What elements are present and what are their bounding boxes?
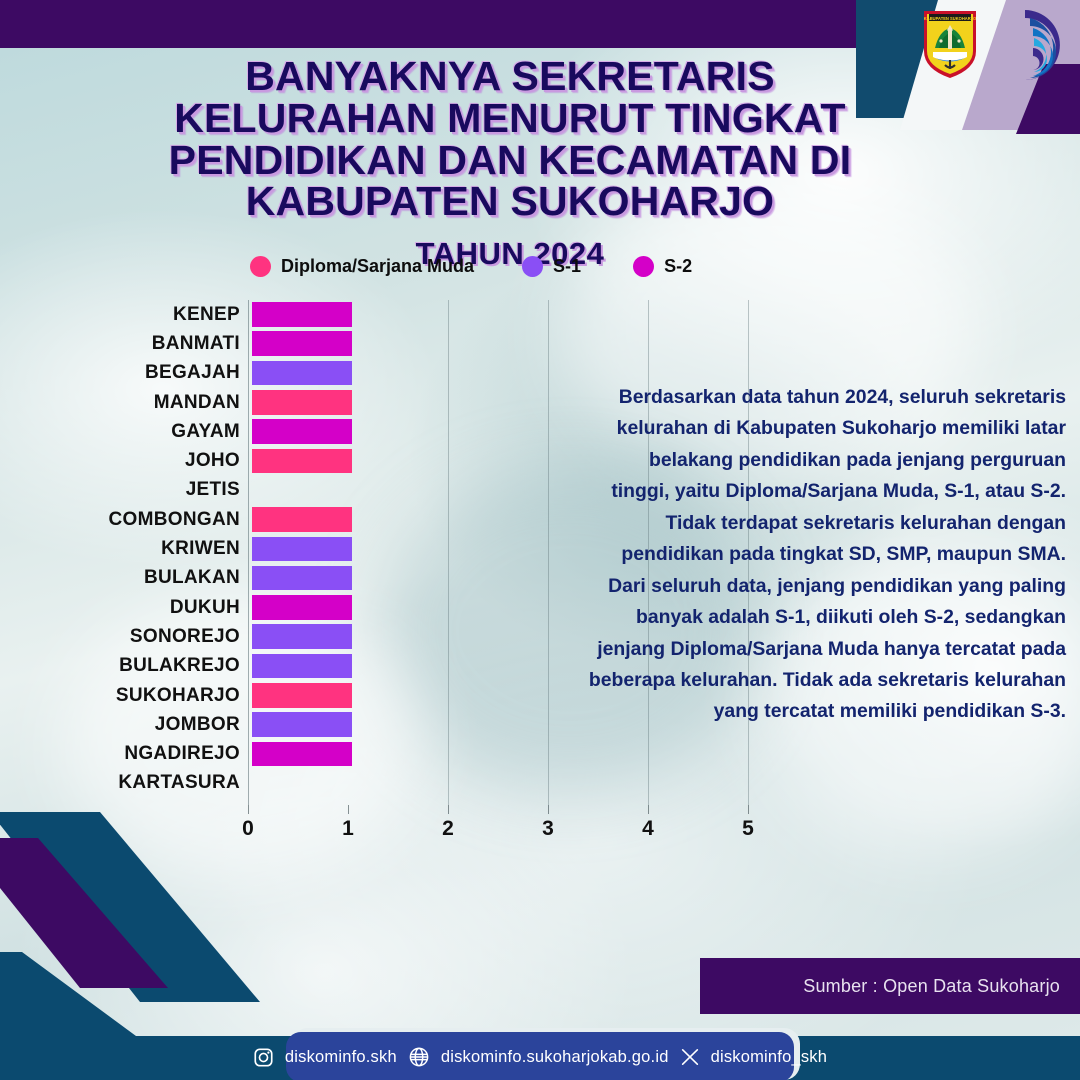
bar	[252, 537, 352, 562]
legend-label-s1: S-1	[553, 256, 581, 277]
tick-label: 5	[742, 817, 754, 841]
legend-item-diploma: Diploma/Sarjana Muda	[250, 256, 474, 277]
category-label: MANDAN	[0, 392, 252, 414]
category-label: KARTASURA	[0, 772, 252, 794]
category-label: JETIS	[0, 479, 252, 501]
chart-legend: Diploma/Sarjana Muda S-1 S-2	[250, 256, 770, 277]
bar-track	[252, 300, 772, 329]
category-label: COMBONGAN	[0, 509, 252, 531]
tick-mark	[348, 805, 349, 814]
category-label: JOHO	[0, 450, 252, 472]
top-purple-banner	[0, 0, 930, 48]
svg-text:KABUPATEN SUKOHARJO: KABUPATEN SUKOHARJO	[924, 16, 977, 21]
category-label: SUKOHARJO	[0, 685, 252, 707]
legend-item-s1: S-1	[522, 256, 581, 277]
legend-label-s2: S-2	[664, 256, 692, 277]
category-label: BULAKREJO	[0, 655, 252, 677]
bar-track	[252, 739, 772, 768]
bar	[252, 507, 352, 532]
diskominfo-wave-logo-icon	[986, 6, 1064, 84]
bar	[252, 361, 352, 386]
bar	[252, 712, 352, 737]
legend-dot-diploma	[250, 256, 271, 277]
bar-track	[252, 329, 772, 358]
bar	[252, 390, 352, 415]
legend-dot-s1	[522, 256, 543, 277]
bar	[252, 566, 352, 591]
legend-dot-s2	[633, 256, 654, 277]
chart-row: KARTASURA	[0, 769, 800, 798]
bar	[252, 302, 352, 327]
tick-label: 2	[442, 817, 454, 841]
bar	[252, 331, 352, 356]
website-url[interactable]: diskominfo.sukoharjokab.go.id	[441, 1048, 669, 1067]
globe-icon[interactable]	[408, 1046, 430, 1068]
bar	[252, 449, 352, 474]
footer-contact-pill: diskominfo.skh diskominfo.sukoharjokab.g…	[286, 1032, 794, 1080]
category-label: KRIWEN	[0, 538, 252, 560]
category-label: DUKUH	[0, 597, 252, 619]
tick-label: 4	[642, 817, 654, 841]
legend-label-diploma: Diploma/Sarjana Muda	[281, 256, 474, 277]
category-label: NGADIREJO	[0, 743, 252, 765]
tick-mark	[648, 805, 649, 814]
category-label: GAYAM	[0, 421, 252, 443]
bar-track	[252, 769, 772, 798]
tick-mark	[548, 805, 549, 814]
bar	[252, 595, 352, 620]
category-label: BULAKAN	[0, 567, 252, 589]
tick-label: 3	[542, 817, 554, 841]
kabupaten-sukoharjo-seal-icon: KABUPATEN SUKOHARJO	[921, 8, 979, 80]
tick-mark	[748, 805, 749, 814]
category-label: BANMATI	[0, 333, 252, 355]
tick-label: 1	[342, 817, 354, 841]
instagram-icon[interactable]	[253, 1047, 274, 1068]
infographic-canvas: KABUPATEN SUKOHARJO BANYAKNYA SEKRETARIS…	[0, 0, 1080, 1080]
category-label: KENEP	[0, 304, 252, 326]
tick-mark	[448, 805, 449, 814]
bar	[252, 624, 352, 649]
tick-label: 0	[242, 817, 254, 841]
instagram-handle[interactable]: diskominfo.skh	[285, 1048, 397, 1067]
bar	[252, 419, 352, 444]
chart-row: BANMATI	[0, 329, 800, 358]
bar	[252, 742, 352, 767]
chart-row: NGADIREJO	[0, 739, 800, 768]
source-label: Sumber : Open Data Sukoharjo	[700, 958, 1060, 1014]
category-label: SONOREJO	[0, 626, 252, 648]
bar	[252, 654, 352, 679]
legend-item-s2: S-2	[633, 256, 692, 277]
page-title: BANYAKNYA SEKRETARIS KELURAHAN MENURUT T…	[110, 56, 910, 223]
bar	[252, 683, 352, 708]
category-label: BEGAJAH	[0, 362, 252, 384]
x-handle[interactable]: diskominfo_skh	[711, 1048, 828, 1067]
title-block: BANYAKNYA SEKRETARIS KELURAHAN MENURUT T…	[110, 56, 910, 272]
tick-mark	[248, 805, 249, 814]
x-twitter-icon[interactable]	[680, 1047, 700, 1067]
narrative-text: Berdasarkan data tahun 2024, seluruh sek…	[588, 382, 1066, 728]
chart-row: KENEP	[0, 300, 800, 329]
category-label: JOMBOR	[0, 714, 252, 736]
